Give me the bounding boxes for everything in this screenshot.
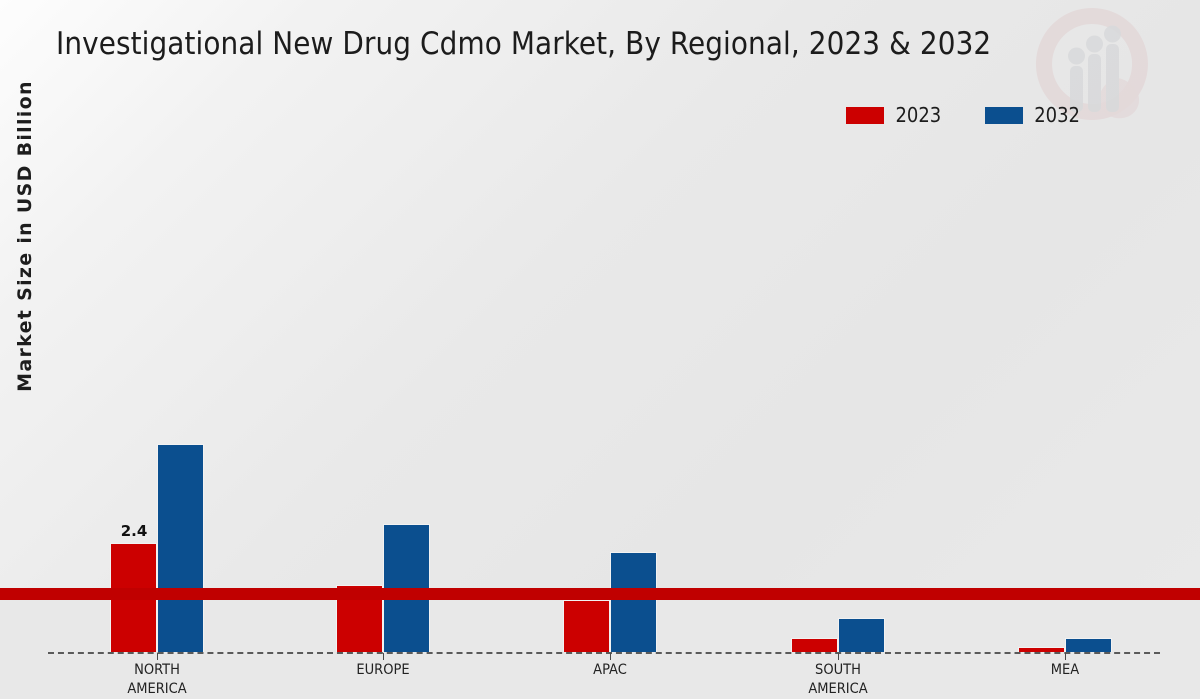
x-axis-tick <box>383 653 384 660</box>
chart-title: Investigational New Drug Cdmo Market, By… <box>56 26 1116 62</box>
legend-item-2023[interactable]: 2023 <box>846 103 941 127</box>
x-axis-label-line: EUROPE <box>293 661 473 680</box>
x-axis-label-north-america: NORTHAMERICA <box>67 661 247 699</box>
bar-2023-apac[interactable] <box>563 600 610 652</box>
bar-2032-south-america[interactable] <box>838 618 885 652</box>
bar-2032-apac[interactable] <box>610 552 657 652</box>
chart-canvas: Investigational New Drug Cdmo Market, By… <box>0 0 1200 600</box>
legend-label-2023: 2023 <box>895 103 941 127</box>
x-axis-tick <box>838 653 839 660</box>
x-axis-tick <box>610 653 611 660</box>
x-axis-label-line: AMERICA <box>67 680 247 699</box>
x-axis-label-line: AMERICA <box>748 680 928 699</box>
chart-legend: 2023 2032 <box>846 103 1080 127</box>
bar-group <box>336 140 430 513</box>
bar-2023-south-america[interactable] <box>791 638 838 652</box>
x-axis-tick <box>1065 653 1066 660</box>
bar-group <box>563 140 657 513</box>
y-axis-title: Market Size in USD Billion <box>14 61 36 411</box>
x-axis-baseline <box>48 652 1160 654</box>
bar-2023-mea[interactable] <box>1018 647 1065 652</box>
bar-2032-mea[interactable] <box>1065 638 1112 652</box>
bar-group <box>791 140 885 513</box>
legend-label-2032: 2032 <box>1034 103 1080 127</box>
x-axis-label-line: MEA <box>975 661 1155 680</box>
x-axis-label-line: NORTH <box>67 661 247 680</box>
x-axis-label-line: APAC <box>520 661 700 680</box>
x-axis-label-europe: EUROPE <box>293 661 473 680</box>
x-axis-label-apac: APAC <box>520 661 700 680</box>
x-axis-tick <box>157 653 158 660</box>
bar-2032-north-america[interactable] <box>157 444 204 652</box>
plot-area: 2.4 NORTHAMERICAEUROPEAPACSOUTHAMERICAME… <box>48 140 1160 513</box>
bar-value-label: 2.4 <box>104 522 164 540</box>
bar-group: 2.4 <box>110 140 204 513</box>
x-axis-label-mea: MEA <box>975 661 1155 680</box>
footer-band <box>0 588 1200 600</box>
legend-swatch-2023 <box>846 107 884 124</box>
legend-swatch-2032 <box>985 107 1023 124</box>
x-axis-label-south-america: SOUTHAMERICA <box>748 661 928 699</box>
x-axis-label-line: SOUTH <box>748 661 928 680</box>
bar-group <box>1018 140 1112 513</box>
legend-item-2032[interactable]: 2032 <box>985 103 1080 127</box>
